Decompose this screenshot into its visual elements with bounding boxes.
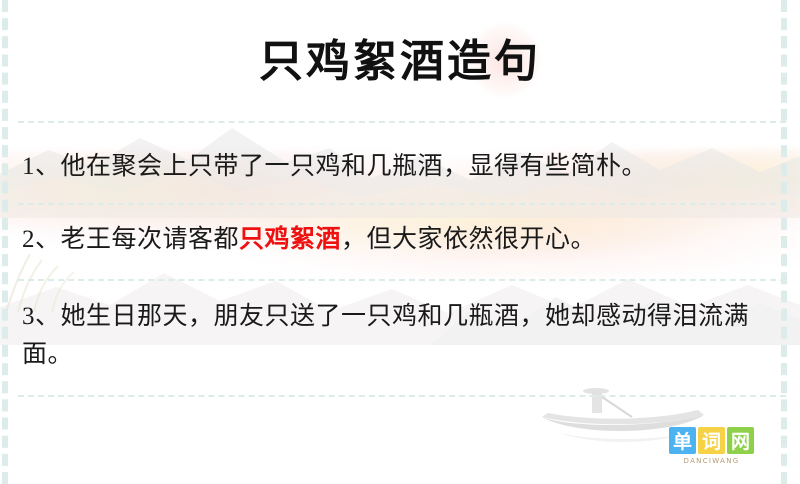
sentence-text-2-suffix: ，但大家依然很开心。 bbox=[341, 226, 596, 253]
divider-1 bbox=[18, 203, 786, 205]
page-title: 只鸡絮酒造句 bbox=[0, 33, 800, 91]
divider-2 bbox=[18, 279, 786, 281]
logo-tiles: 单 词 网 bbox=[669, 427, 761, 454]
slide-canvas: 只鸡絮酒造句 1、他在聚会上只带了一只鸡和几瓶酒，显得有些简朴。 2、老王每次请… bbox=[0, 0, 800, 484]
example-sentence-3: 3、她生日那天，朋友只送了一只鸡和几瓶酒，她却感动得泪流满面。 bbox=[22, 298, 778, 374]
keyword-highlight: 只鸡絮酒 bbox=[239, 226, 341, 253]
logo-tile-3: 网 bbox=[727, 427, 754, 454]
divider-bottom bbox=[18, 395, 786, 397]
logo-tile-2: 词 bbox=[698, 427, 725, 454]
logo-subtitle: DANCIWANG bbox=[669, 457, 754, 465]
sentence-index-2: 2、 bbox=[22, 226, 61, 253]
sentence-text-2-prefix: 老王每次请客都 bbox=[61, 226, 240, 253]
example-sentence-1: 1、他在聚会上只带了一只鸡和几瓶酒，显得有些简朴。 bbox=[22, 148, 778, 186]
sentence-index-3: 3、 bbox=[22, 303, 61, 330]
sentence-text-3: 她生日那天，朋友只送了一只鸡和几瓶酒，她却感动得泪流满面。 bbox=[22, 303, 749, 368]
divider-top bbox=[18, 121, 786, 123]
sentence-text-1: 他在聚会上只带了一只鸡和几瓶酒，显得有些简朴。 bbox=[61, 153, 648, 180]
site-logo[interactable]: 单 词 网 DANCIWANG bbox=[669, 427, 761, 465]
sentence-index-1: 1、 bbox=[22, 153, 61, 180]
logo-tile-1: 单 bbox=[669, 427, 696, 454]
example-sentence-2: 2、老王每次请客都只鸡絮酒，但大家依然很开心。 bbox=[22, 221, 778, 259]
